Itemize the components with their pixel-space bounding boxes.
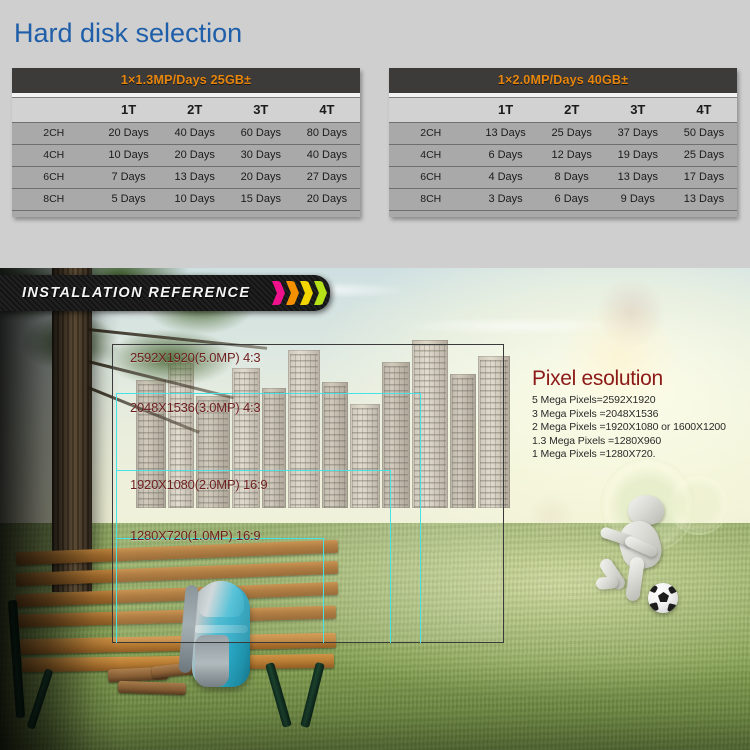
cell-4ch-1t: 6 Days bbox=[473, 144, 539, 166]
row-label-8ch: 8CH bbox=[389, 188, 473, 210]
banner-label: INSTALLATION REFERENCE bbox=[22, 285, 250, 301]
row-label-2ch: 2CH bbox=[12, 122, 96, 144]
cell-4ch-4t: 40 Days bbox=[294, 144, 360, 166]
cell-8ch-1t: 3 Days bbox=[473, 188, 539, 210]
figure-head bbox=[628, 495, 664, 525]
pixel-resolution-line: 2 Mega Pixels =1920X1080 or 1600X1200 bbox=[532, 421, 748, 435]
resolution-label-2mp: 1920X1080(2.0MP) 16:9 bbox=[130, 477, 267, 492]
bench-armrest bbox=[262, 594, 324, 666]
row-label-8ch: 8CH bbox=[12, 188, 96, 210]
bottom-vignette bbox=[0, 660, 750, 750]
cell-6ch-3t: 13 Days bbox=[605, 166, 671, 188]
cell-6ch-2t: 13 Days bbox=[162, 166, 228, 188]
table-corner-cell bbox=[12, 98, 96, 122]
column-header-3t: 3T bbox=[605, 98, 671, 122]
installation-reference-banner: INSTALLATION REFERENCE bbox=[0, 275, 330, 311]
pixel-resolution-title: Pixel esolution bbox=[532, 367, 748, 391]
chevron-icon bbox=[314, 281, 327, 305]
table-caption: 1×1.3MP/Days 25GB± bbox=[12, 68, 360, 93]
column-header-2t: 2T bbox=[162, 98, 228, 122]
resolution-label-5mp: 2592X1920(5.0MP) 4:3 bbox=[130, 350, 260, 365]
table-row: 8CH 3 Days 6 Days 9 Days 13 Days bbox=[389, 188, 737, 210]
column-header-4t: 4T bbox=[294, 98, 360, 122]
cell-8ch-2t: 6 Days bbox=[539, 188, 605, 210]
cell-4ch-3t: 30 Days bbox=[228, 144, 294, 166]
cell-6ch-1t: 7 Days bbox=[96, 166, 162, 188]
spec-table: 1T 2T 3T 4T 2CH 13 Days 25 Days 37 Days … bbox=[389, 98, 737, 210]
cell-8ch-1t: 5 Days bbox=[96, 188, 162, 210]
table-caption: 1×2.0MP/Days 40GB± bbox=[389, 68, 737, 93]
cell-2ch-2t: 25 Days bbox=[539, 122, 605, 144]
table-row: 4CH 10 Days 20 Days 30 Days 40 Days bbox=[12, 144, 360, 166]
cell-2ch-2t: 40 Days bbox=[162, 122, 228, 144]
cell-6ch-2t: 8 Days bbox=[539, 166, 605, 188]
cell-8ch-2t: 10 Days bbox=[162, 188, 228, 210]
cell-8ch-3t: 9 Days bbox=[605, 188, 671, 210]
pixel-resolution-line: 5 Mega Pixels=2592X1920 bbox=[532, 394, 748, 408]
cell-2ch-4t: 50 Days bbox=[671, 122, 737, 144]
page-title: Hard disk selection bbox=[14, 18, 242, 49]
table-corner-cell bbox=[389, 98, 473, 122]
cell-2ch-3t: 37 Days bbox=[605, 122, 671, 144]
cell-8ch-4t: 13 Days bbox=[671, 188, 737, 210]
cell-4ch-3t: 19 Days bbox=[605, 144, 671, 166]
resolution-label-1mp: 1280X720(1.0MP) 16:9 bbox=[130, 528, 260, 543]
cell-6ch-1t: 4 Days bbox=[473, 166, 539, 188]
pixel-resolution-line: 1.3 Mega Pixels =1280X960 bbox=[532, 435, 748, 449]
hard-disk-table-1-3mp: 1×1.3MP/Days 25GB± 1T 2T 3T 4T 2CH 20 Da… bbox=[12, 68, 360, 217]
cell-8ch-3t: 15 Days bbox=[228, 188, 294, 210]
cell-4ch-2t: 20 Days bbox=[162, 144, 228, 166]
table-header-row: 1T 2T 3T 4T bbox=[389, 98, 737, 122]
table-row: 6CH 4 Days 8 Days 13 Days 17 Days bbox=[389, 166, 737, 188]
column-header-1t: 1T bbox=[473, 98, 539, 122]
table-footer-strip bbox=[12, 210, 360, 217]
cell-2ch-3t: 60 Days bbox=[228, 122, 294, 144]
cell-8ch-4t: 20 Days bbox=[294, 188, 360, 210]
row-label-4ch: 4CH bbox=[389, 144, 473, 166]
pixel-resolution-block: Pixel esolution 5 Mega Pixels=2592X1920 … bbox=[532, 367, 748, 462]
table-footer-strip bbox=[389, 210, 737, 217]
hard-disk-selection-section: Hard disk selection 1×1.3MP/Days 25GB± 1… bbox=[0, 0, 750, 268]
pixel-resolution-line: 3 Mega Pixels =2048X1536 bbox=[532, 408, 748, 422]
cell-6ch-3t: 20 Days bbox=[228, 166, 294, 188]
spec-table: 1T 2T 3T 4T 2CH 20 Days 40 Days 60 Days … bbox=[12, 98, 360, 210]
row-label-4ch: 4CH bbox=[12, 144, 96, 166]
installation-reference-photo: 2592X1920(5.0MP) 4:3 2048X1536(3.0MP) 4:… bbox=[0, 268, 750, 750]
backpack-lid bbox=[198, 581, 244, 617]
cell-4ch-1t: 10 Days bbox=[96, 144, 162, 166]
hard-disk-table-2-0mp: 1×2.0MP/Days 40GB± 1T 2T 3T 4T 2CH 13 Da… bbox=[389, 68, 737, 217]
cell-4ch-4t: 25 Days bbox=[671, 144, 737, 166]
backpack-band bbox=[194, 625, 248, 633]
table-row: 2CH 13 Days 25 Days 37 Days 50 Days bbox=[389, 122, 737, 144]
pixel-resolution-line: 1 Mega Pixels =1280X720. bbox=[532, 448, 748, 462]
table-row: 6CH 7 Days 13 Days 20 Days 27 Days bbox=[12, 166, 360, 188]
chevron-icon bbox=[286, 281, 299, 305]
chevron-icon bbox=[300, 281, 313, 305]
column-header-1t: 1T bbox=[96, 98, 162, 122]
cell-2ch-1t: 20 Days bbox=[96, 122, 162, 144]
column-header-4t: 4T bbox=[671, 98, 737, 122]
table-header-row: 1T 2T 3T 4T bbox=[12, 98, 360, 122]
cell-2ch-4t: 80 Days bbox=[294, 122, 360, 144]
cell-2ch-1t: 13 Days bbox=[473, 122, 539, 144]
table-row: 2CH 20 Days 40 Days 60 Days 80 Days bbox=[12, 122, 360, 144]
soccer-ball bbox=[648, 583, 678, 613]
column-header-3t: 3T bbox=[228, 98, 294, 122]
product-spec-page: Hard disk selection 1×1.3MP/Days 25GB± 1… bbox=[0, 0, 750, 750]
row-label-6ch: 6CH bbox=[389, 166, 473, 188]
row-label-2ch: 2CH bbox=[389, 122, 473, 144]
cell-6ch-4t: 17 Days bbox=[671, 166, 737, 188]
resolution-label-3mp: 2048X1536(3.0MP) 4:3 bbox=[130, 400, 260, 415]
chevron-icon bbox=[272, 281, 285, 305]
column-header-2t: 2T bbox=[539, 98, 605, 122]
table-row: 4CH 6 Days 12 Days 19 Days 25 Days bbox=[389, 144, 737, 166]
row-label-6ch: 6CH bbox=[12, 166, 96, 188]
table-row: 8CH 5 Days 10 Days 15 Days 20 Days bbox=[12, 188, 360, 210]
cell-4ch-2t: 12 Days bbox=[539, 144, 605, 166]
cell-6ch-4t: 27 Days bbox=[294, 166, 360, 188]
